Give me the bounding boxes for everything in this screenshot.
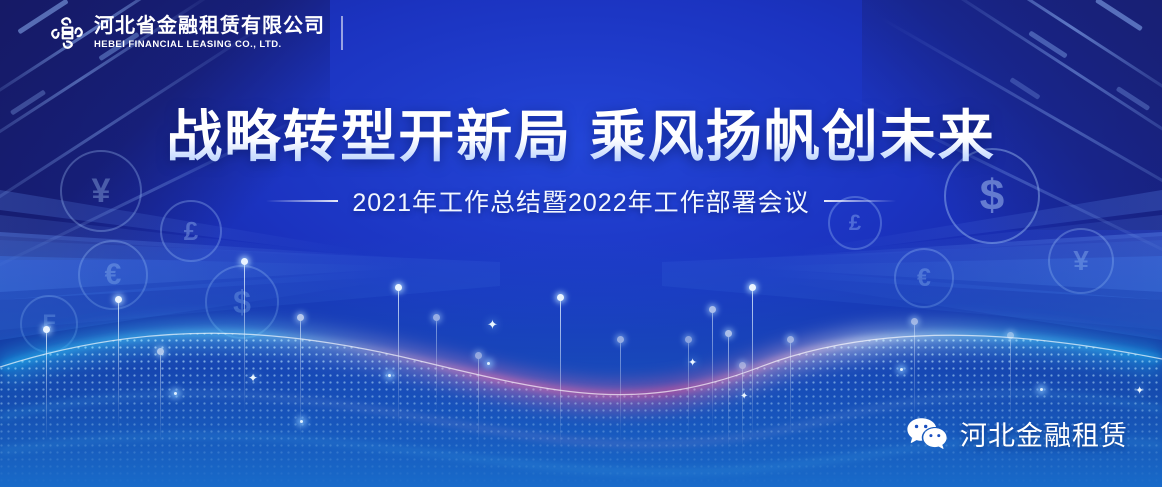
- wechat-icon: [906, 417, 948, 451]
- conference-banner: ¥ € £ $ ₣ $ ¥ € £: [0, 0, 1162, 487]
- subtitle-rule-left: [266, 200, 338, 202]
- wechat-account-name: 河北金融租赁: [960, 414, 1128, 453]
- main-title: 战略转型开新局 乘风扬帆创未来: [0, 92, 1162, 173]
- company-name-en: HEBEI FINANCIAL LEASING CO., LTD.: [94, 40, 325, 50]
- subtitle: 2021年工作总结暨2022年工作部署会议: [352, 183, 809, 219]
- logo-divider: [341, 16, 343, 50]
- company-name-cn: 河北省金融租赁有限公司: [94, 16, 325, 36]
- subtitle-row: 2021年工作总结暨2022年工作部署会议: [0, 183, 1162, 219]
- company-logo: 河北省金融租赁有限公司 HEBEI FINANCIAL LEASING CO.,…: [50, 16, 343, 50]
- wechat-account[interactable]: 河北金融租赁: [906, 414, 1128, 453]
- subtitle-rule-right: [824, 200, 896, 202]
- title-block: 战略转型开新局 乘风扬帆创未来 2021年工作总结暨2022年工作部署会议: [0, 92, 1162, 219]
- hebei-interlocking-logo-icon: [50, 16, 84, 50]
